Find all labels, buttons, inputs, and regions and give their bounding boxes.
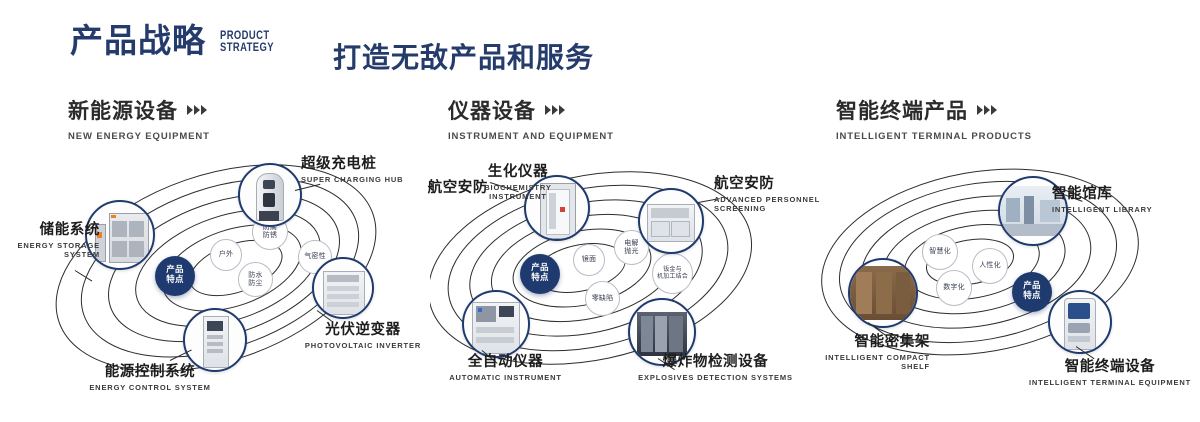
label-en: AUTOMATIC INSTRUMENT xyxy=(428,373,583,382)
label-cn: 智能馆库 xyxy=(1052,182,1200,203)
headline: 打造无敌产品和服务 xyxy=(333,36,594,76)
label-biochemistry-instrument: 生化仪器 BIOCHEMISTRY INSTRUMENT xyxy=(462,160,574,202)
feature-bubble[interactable]: 钣金与 机加工结合 xyxy=(652,253,693,294)
compact-shelf-icon xyxy=(850,260,916,326)
label-cn: 光伏逆变器 xyxy=(296,318,430,339)
node-advanced-personnel-screening[interactable] xyxy=(638,188,704,254)
section-title-new-energy: 新能源设备 NEW ENERGY EQUIPMENT xyxy=(68,95,210,142)
slide-title-block: 产品战略 PRODUCT STRATEGY xyxy=(70,24,286,57)
section-title-cn: 仪器设备 xyxy=(448,95,536,125)
section-title-en: INTELLIGENT TERMINAL PRODUCTS xyxy=(836,131,1032,142)
section-title-cn: 新能源设备 xyxy=(68,95,178,125)
label-en: ENERGY STORAGE SYSTEM xyxy=(0,241,100,260)
node-intelligent-terminal-equipment[interactable] xyxy=(1048,290,1112,354)
feature-label: 镜面 xyxy=(582,256,596,264)
brand-title-en: PRODUCT STRATEGY xyxy=(220,30,274,57)
feature-label-2: 防锈 xyxy=(263,232,277,240)
node-photovoltaic-inverter[interactable] xyxy=(312,257,374,319)
label-explosives-detection-systems: 爆炸物检测设备 EXPLOSIVES DETECTION SYSTEMS xyxy=(628,350,803,382)
label-energy-control-system: 能源控制系统 ENERGY CONTROL SYSTEM xyxy=(70,360,230,392)
core-feature-bubble[interactable]: 产品 特点 xyxy=(1012,272,1052,312)
feature-bubble[interactable]: 数字化 xyxy=(936,270,972,306)
label-en: INTELLIGENT COMPACT SHELF xyxy=(800,353,930,372)
feature-bubble[interactable]: 智慧化 xyxy=(922,234,958,270)
label-en: INTELLIGENT LIBRARY xyxy=(1052,205,1200,214)
feature-label-2: 抛光 xyxy=(624,248,638,256)
brand-title-cn: 产品战略 xyxy=(70,24,206,57)
label-cn: 智能密集架 xyxy=(800,330,930,351)
label-automatic-instrument: 全自动仪器 AUTOMATIC INSTRUMENT xyxy=(428,350,583,382)
brand-title-en-line2: STRATEGY xyxy=(220,42,274,54)
pv-inverter-icon xyxy=(314,259,372,317)
label-cn: 生化仪器 xyxy=(462,160,574,181)
feature-label-2: 防尘 xyxy=(248,280,262,288)
label-en: INTELLIGENT TERMINAL EQUIPMENT xyxy=(1020,378,1200,387)
node-super-charging-hub[interactable] xyxy=(238,163,302,227)
section-title-en: NEW ENERGY EQUIPMENT xyxy=(68,131,210,142)
feature-label: 数字化 xyxy=(943,284,965,292)
label-intelligent-library: 智能馆库 INTELLIGENT LIBRARY xyxy=(1052,182,1200,214)
label-en: BIOCHEMISTRY INSTRUMENT xyxy=(462,183,574,202)
diagram-group-new-energy: 产品 特点 户外 防腐 防锈 气密性 防水 防尘 xyxy=(40,150,440,390)
chevrons-right-icon xyxy=(187,105,207,115)
slide-canvas: 产品战略 PRODUCT STRATEGY 打造无敌产品和服务 新能源设备 NE… xyxy=(0,0,1200,422)
label-photovoltaic-inverter: 光伏逆变器 PHOTOVOLTAIC INVERTER xyxy=(296,318,430,350)
label-cn: 智能终端设备 xyxy=(1020,355,1200,376)
label-cn: 爆炸物检测设备 xyxy=(628,350,803,371)
label-en: EXPLOSIVES DETECTION SYSTEMS xyxy=(628,373,803,382)
chevrons-right-icon xyxy=(977,105,997,115)
label-intelligent-terminal-equipment: 智能终端设备 INTELLIGENT TERMINAL EQUIPMENT xyxy=(1020,355,1200,387)
feature-label: 智慧化 xyxy=(929,248,951,256)
feature-bubble[interactable]: 防水 防尘 xyxy=(238,262,273,297)
label-energy-storage-system: 储能系统 ENERGY STORAGE SYSTEM xyxy=(0,218,100,260)
core-feature-bubble[interactable]: 产品 特点 xyxy=(520,254,560,294)
label-cn: 超级充电桩 xyxy=(301,152,431,173)
core-feature-line2: 特点 xyxy=(1023,292,1040,302)
core-feature-line2: 特点 xyxy=(166,276,183,286)
feature-bubble[interactable]: 人性化 xyxy=(972,248,1008,284)
section-title-intelligent-terminal: 智能终端产品 INTELLIGENT TERMINAL PRODUCTS xyxy=(836,95,1032,142)
label-en: ENERGY CONTROL SYSTEM xyxy=(70,383,230,392)
core-feature-line2: 特点 xyxy=(531,274,548,284)
screening-machine-icon xyxy=(640,190,702,252)
node-intelligent-compact-shelf[interactable] xyxy=(848,258,918,328)
feature-label: 户外 xyxy=(219,251,233,259)
brand-title-en-line1: PRODUCT xyxy=(220,30,274,42)
feature-bubble[interactable]: 镜面 xyxy=(573,244,605,276)
feature-bubble[interactable]: 零缺陷 xyxy=(585,281,620,316)
feature-label: 人性化 xyxy=(979,262,1001,270)
chevrons-right-icon xyxy=(545,105,565,115)
core-feature-bubble[interactable]: 产品 特点 xyxy=(155,256,195,296)
section-title-en: INSTRUMENT AND EQUIPMENT xyxy=(448,131,614,142)
label-cn: 储能系统 xyxy=(0,218,100,239)
feature-bubble[interactable]: 户外 xyxy=(210,239,242,271)
label-en: PHOTOVOLTAIC INVERTER xyxy=(296,341,430,350)
automatic-instrument-icon xyxy=(464,292,528,356)
feature-label: 零缺陷 xyxy=(592,295,614,303)
section-title-cn: 智能终端产品 xyxy=(836,95,968,125)
node-automatic-instrument[interactable] xyxy=(462,290,530,358)
terminal-kiosk-icon xyxy=(1050,292,1110,352)
label-cn: 能源控制系统 xyxy=(70,360,230,381)
label-cn: 全自动仪器 xyxy=(428,350,583,371)
section-title-instrument: 仪器设备 INSTRUMENT AND EQUIPMENT xyxy=(448,95,614,142)
label-intelligent-compact-shelf: 智能密集架 INTELLIGENT COMPACT SHELF xyxy=(800,330,930,372)
feature-label-2: 机加工结合 xyxy=(657,274,688,281)
charging-pile-icon xyxy=(240,165,300,225)
